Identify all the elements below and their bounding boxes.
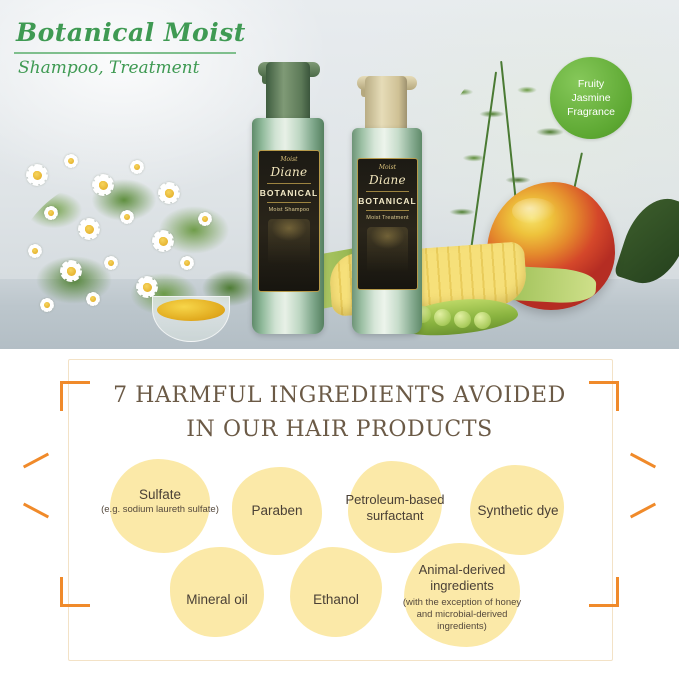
tick-mid-left (23, 453, 49, 469)
ingredient-animal-derived-ingredients-label: Animal-derived ingredients (398, 562, 526, 595)
treatment-label-range: BOTANICAL (358, 196, 417, 206)
tick-mid-right-2 (630, 503, 656, 519)
ingredient-ethanol-label: Ethanol (282, 592, 390, 609)
mango-highlight (512, 198, 556, 224)
tick-mid-right (630, 453, 656, 469)
ingredient-ethanol: Ethanol (282, 592, 390, 609)
fragrance-badge-line1: Fruity (578, 77, 604, 91)
shampoo-pump-shaft (266, 62, 310, 120)
hero-title: Botanical Moist (16, 18, 246, 47)
shampoo-label-rule-bottom (267, 202, 311, 203)
product-infographic: Moist Diane BOTANICAL Moist Shampoo Mois… (0, 0, 679, 679)
shampoo-label-brand: Diane (259, 165, 319, 179)
panel-headline-line1: 7 HARMFUL INGREDIENTS AVOIDED (0, 379, 679, 413)
ingredient-mineral-oil-label: Mineral oil (160, 592, 274, 609)
shampoo-label-moist: Moist (259, 156, 319, 163)
ingredient-sulfate-label: Sulfate (100, 487, 220, 504)
hero-subtitle: Shampoo, Treatment (18, 58, 199, 78)
treatment-pump-shaft (365, 76, 407, 130)
ingredients-panel: 7 HARMFUL INGREDIENTS AVOIDED IN OUR HAI… (0, 349, 679, 679)
shampoo-label: Moist Diane BOTANICAL Moist Shampoo (258, 150, 320, 292)
oil-surface (157, 299, 225, 321)
treatment-label: Moist Diane BOTANICAL Moist Treatment (357, 158, 418, 290)
ingredient-petroleum-based-surfactant-label: Petroleum-based surfactant (330, 492, 460, 525)
fragrance-badge-line2: Jasmine (571, 91, 610, 105)
hero-title-underline (14, 52, 236, 54)
tick-bottom-left-v (60, 577, 63, 607)
fragrance-badge: Fruity Jasmine Fragrance (550, 57, 632, 139)
ingredient-paraben: Paraben (222, 503, 332, 520)
fragrance-badge-line3: Fragrance (567, 105, 615, 119)
treatment-label-brand: Diane (358, 173, 417, 187)
pea-3 (454, 311, 471, 328)
treatment-label-variant: Moist Treatment (358, 215, 417, 221)
ingredient-sulfate-note: (e.g. sodium laureth sulfate) (100, 504, 220, 516)
ingredient-animal-derived-ingredients-note: (with the exception of honey and microbi… (398, 597, 526, 634)
panel-headline-line2: IN OUR HAIR PRODUCTS (0, 413, 679, 447)
hero-product-photo: Moist Diane BOTANICAL Moist Shampoo Mois… (0, 0, 679, 349)
ingredient-animal-derived-ingredients: Animal-derived ingredients (with the exc… (398, 562, 526, 634)
treatment-label-moist: Moist (358, 164, 417, 171)
ingredient-synthetic-dye: Synthetic dye (460, 503, 576, 520)
pea-4 (474, 312, 491, 329)
tick-mid-left-2 (23, 503, 49, 519)
pea-2 (434, 309, 451, 326)
ingredient-sulfate: Sulfate (e.g. sodium laureth sulfate) (100, 487, 220, 516)
ingredient-paraben-label: Paraben (222, 503, 332, 520)
panel-headline: 7 HARMFUL INGREDIENTS AVOIDED IN OUR HAI… (0, 379, 679, 447)
shampoo-label-range: BOTANICAL (259, 188, 319, 198)
shampoo-label-artwork (268, 219, 310, 265)
tick-bottom-right-v (616, 577, 619, 607)
ingredient-petroleum-based-surfactant: Petroleum-based surfactant (330, 492, 460, 525)
tick-bottom-right-h (589, 604, 619, 607)
ingredient-mineral-oil: Mineral oil (160, 592, 274, 609)
tick-bottom-left-h (60, 604, 90, 607)
treatment-label-rule-bottom (366, 210, 410, 211)
shampoo-label-rule-top (267, 183, 311, 184)
treatment-label-rule-top (366, 191, 410, 192)
ingredient-synthetic-dye-label: Synthetic dye (460, 503, 576, 520)
treatment-label-artwork (367, 227, 408, 273)
shampoo-label-variant: Moist Shampoo (259, 207, 319, 213)
